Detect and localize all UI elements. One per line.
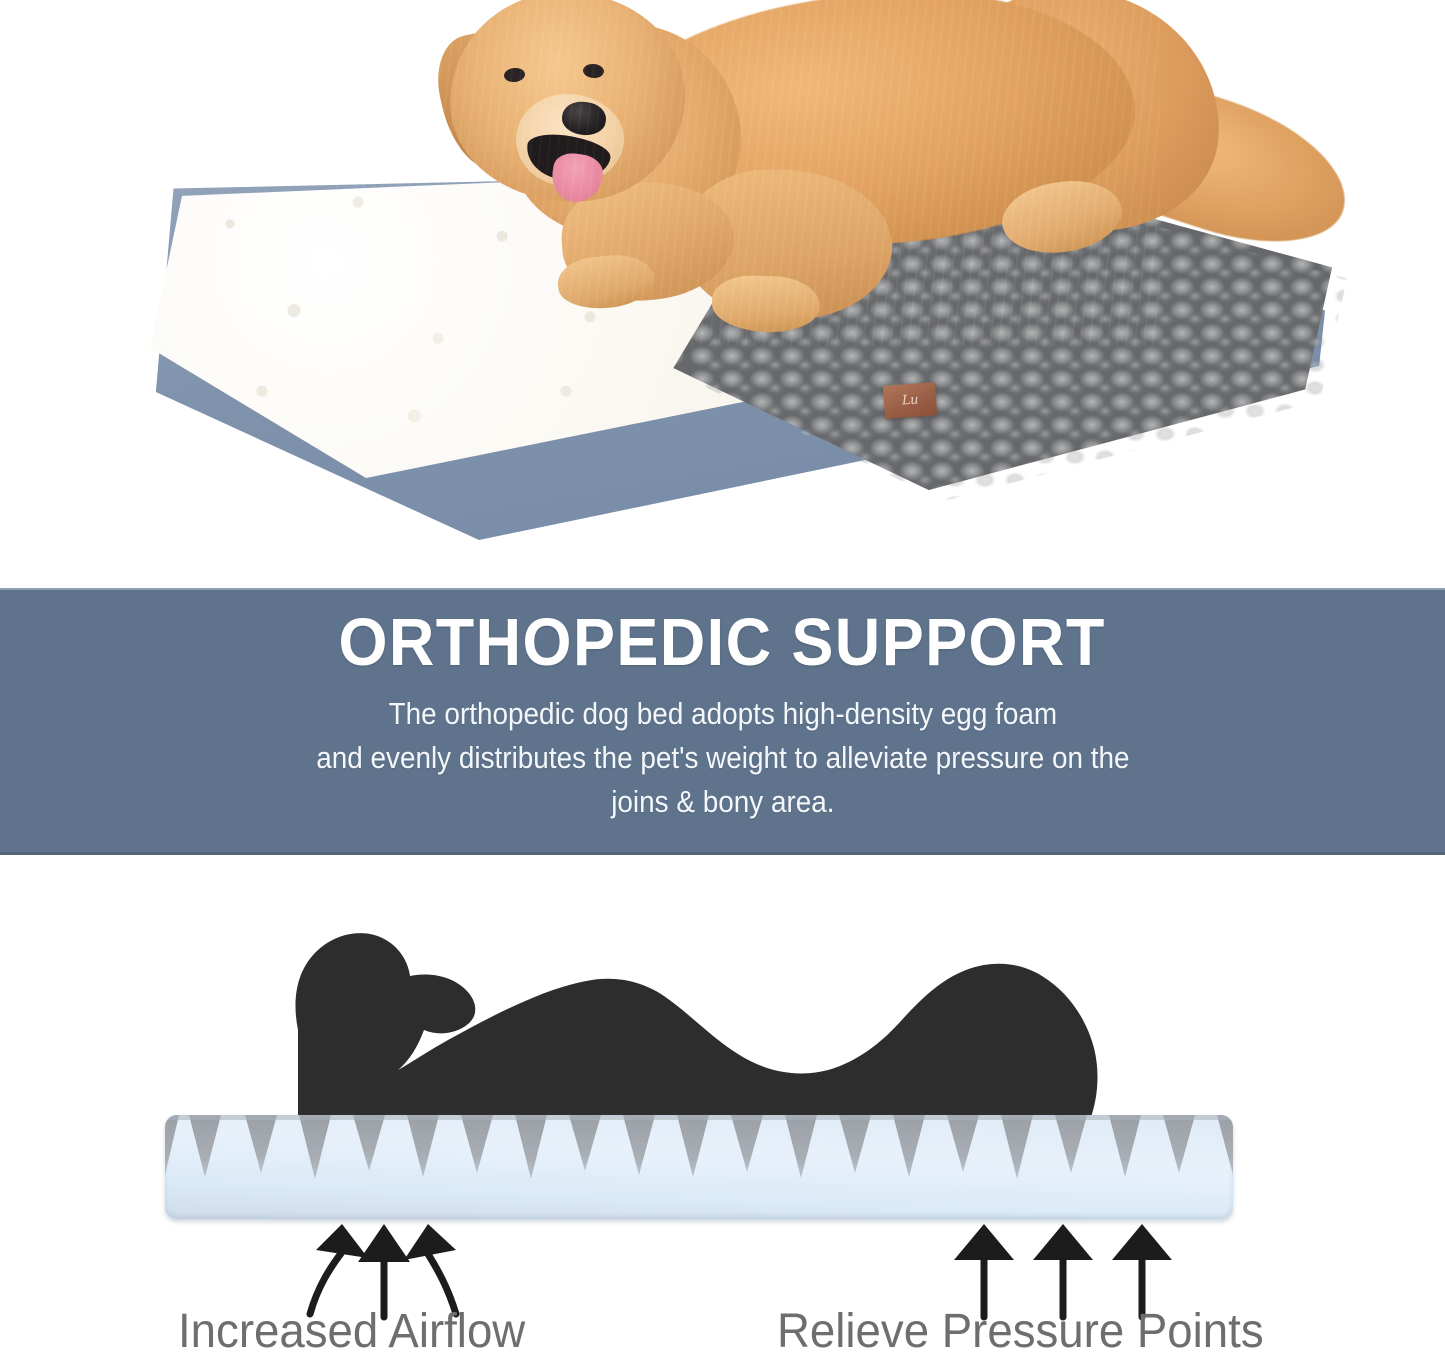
pressure-arrow-head-1 — [954, 1224, 1014, 1260]
headline-line-2: and evenly distributes the pet's weight … — [316, 736, 1129, 780]
headline-band: ORTHOPEDIC SUPPORT The orthopedic dog be… — [0, 588, 1445, 855]
product-photo-section: Lu — [0, 0, 1445, 588]
airflow-arrow-head-2 — [358, 1224, 410, 1262]
airflow-arrow-head-1 — [316, 1224, 368, 1258]
caption-relieve-pressure-points: Relieve Pressure Points — [777, 1304, 1264, 1361]
headline-line-1: The orthopedic dog bed adopts high-densi… — [316, 692, 1129, 736]
headline-line-3: joins & bony area. — [316, 780, 1129, 824]
pressure-arrow-head-2 — [1033, 1224, 1093, 1260]
foam-pad — [165, 1115, 1233, 1219]
golden-retriever-photo — [330, 0, 1160, 346]
brand-leather-tag: Lu — [883, 382, 937, 419]
airflow-arrow-head-3 — [404, 1224, 456, 1260]
headline-description: The orthopedic dog bed adopts high-densi… — [316, 692, 1129, 824]
product-feature-page: Lu — [0, 0, 1445, 1364]
product-photo: Lu — [0, 0, 1445, 588]
diagram-captions: Increased Airflow Relieve Pressure Point… — [0, 1304, 1445, 1364]
foam-spikes — [165, 1115, 1233, 1219]
headline-title: ORTHOPEDIC SUPPORT — [339, 608, 1106, 678]
foam-spike-group — [165, 1115, 1233, 1179]
caption-increased-airflow: Increased Airflow — [178, 1304, 525, 1361]
brand-tag-label: Lu — [901, 392, 918, 408]
pressure-arrow-head-3 — [1112, 1224, 1172, 1260]
